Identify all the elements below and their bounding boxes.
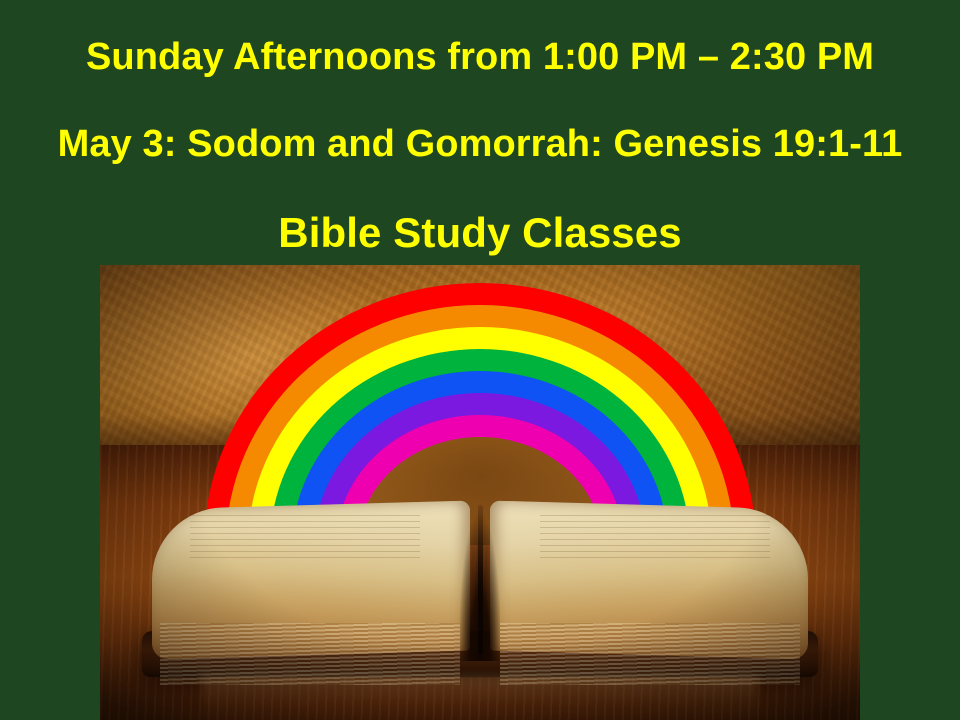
slide-heading-schedule: Sunday Afternoons from 1:00 PM – 2:30 PM xyxy=(0,38,960,76)
slide-heading-lesson: May 3: Sodom and Gomorrah: Genesis 19:1-… xyxy=(0,125,960,163)
book-spine-crease xyxy=(478,505,483,655)
rainbow-arc-graphic xyxy=(100,265,860,545)
book-table-reflection xyxy=(202,675,758,720)
book-right-page-text xyxy=(540,515,770,561)
open-book xyxy=(142,505,818,685)
book-left-page-text xyxy=(190,515,420,561)
slide-canvas: Sunday Afternoons from 1:00 PM – 2:30 PM… xyxy=(0,0,960,720)
slide-title-bible-study-classes: Bible Study Classes xyxy=(0,212,960,254)
bible-rainbow-photo xyxy=(100,265,860,720)
